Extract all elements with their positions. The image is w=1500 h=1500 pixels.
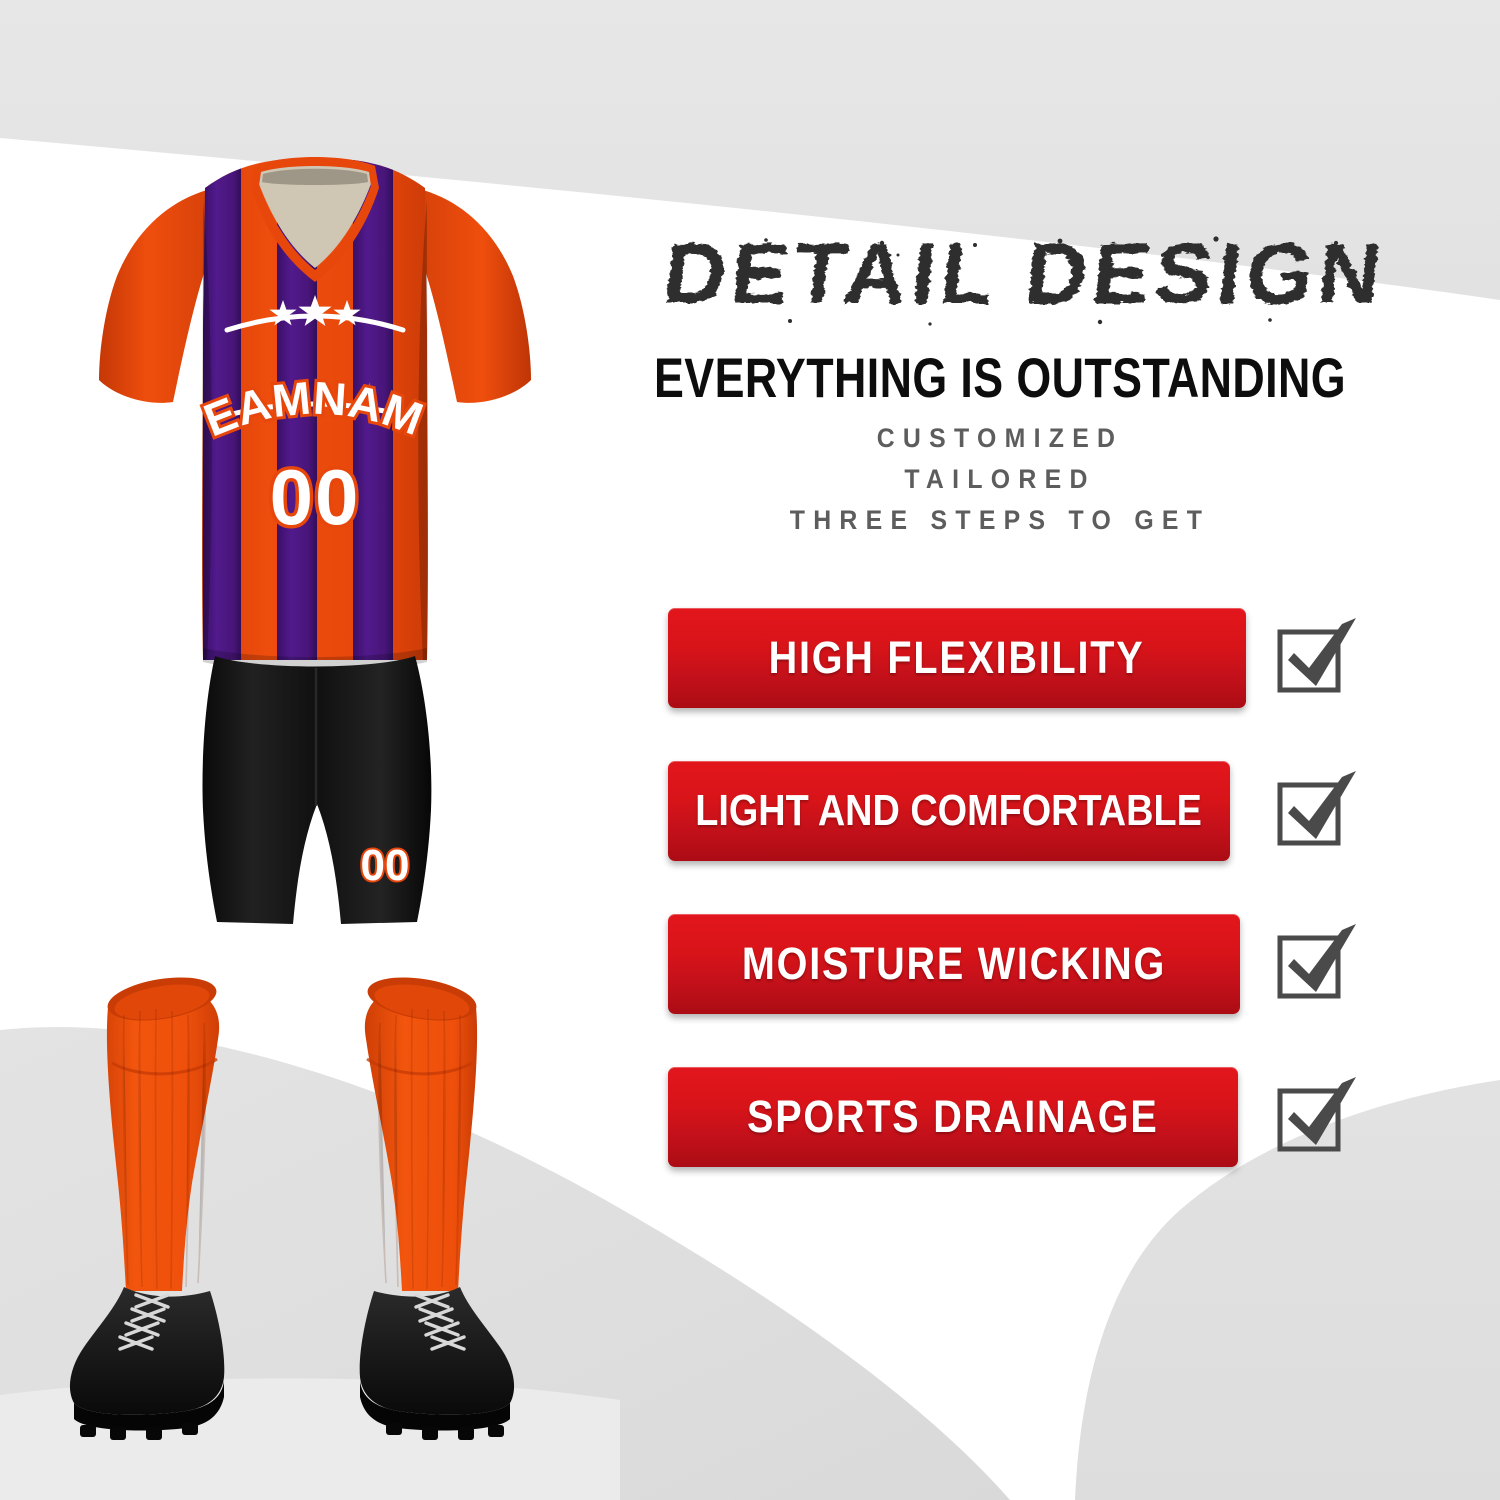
jersey-right-sleeve: [423, 190, 531, 403]
feature-label: HIGH FLEXIBILITY: [769, 632, 1145, 684]
cleat-left: [70, 1287, 224, 1440]
subtitle-line-1: CUSTOMIZED: [595, 418, 1405, 459]
jersey-left-sleeve: [99, 190, 207, 403]
feature-label: LIGHT AND COMFORTABLE: [696, 786, 1203, 836]
collar-inner-shadow: [262, 169, 368, 185]
uniform-kit-illustration: TEAMNAME 00 00: [55, 140, 575, 940]
feature-bar-sports-drainage[interactable]: SPORTS DRAINAGE: [668, 1067, 1238, 1167]
headline-text: EVERYTHING IS OUTSTANDING: [648, 345, 1352, 410]
sock-right: [365, 971, 480, 1291]
feature-row: SPORTS DRAINAGE: [668, 1067, 1488, 1177]
feature-label: SPORTS DRAINAGE: [747, 1091, 1158, 1143]
checkbox-checked-icon[interactable]: [1264, 918, 1360, 1014]
checkbox-checked-icon[interactable]: [1264, 1071, 1360, 1167]
feature-bar-light-and-comfortable[interactable]: LIGHT AND COMFORTABLE: [668, 761, 1230, 861]
content-panel: DETAIL DESIGN EVERYTHING IS OUTSTANDING …: [560, 0, 1500, 1500]
subtitle-line-2: TAILORED: [595, 459, 1405, 500]
feature-list: HIGH FLEXIBILITY LIGHT AND COMFORTABLE: [668, 608, 1488, 1220]
feature-row: LIGHT AND COMFORTABLE: [668, 761, 1488, 871]
page-title: DETAIL DESIGN: [630, 225, 1430, 330]
checkbox-checked-icon[interactable]: [1264, 765, 1360, 861]
page-title-text: DETAIL DESIGN: [659, 226, 1390, 322]
checkbox-checked-icon[interactable]: [1264, 612, 1360, 708]
feature-label: MOISTURE WICKING: [742, 938, 1166, 990]
feature-bar-moisture-wicking[interactable]: MOISTURE WICKING: [668, 914, 1240, 1014]
subtitle-block: CUSTOMIZED TAILORED THREE STEPS TO GET: [560, 418, 1440, 541]
subtitle-line-3: THREE STEPS TO GET: [595, 500, 1405, 541]
product-promo-page: TEAMNAME 00 00: [0, 0, 1500, 1500]
feature-row: MOISTURE WICKING: [668, 914, 1488, 1024]
shorts-number: 00: [361, 841, 410, 890]
feature-bar-high-flexibility[interactable]: HIGH FLEXIBILITY: [668, 608, 1246, 708]
sock-left: [105, 971, 220, 1291]
jersey-number: 00: [270, 453, 361, 541]
socks-and-cleats-illustration: [40, 955, 570, 1465]
product-showcase: TEAMNAME 00 00: [0, 0, 620, 1500]
cleat-right: [360, 1287, 514, 1440]
feature-row: HIGH FLEXIBILITY: [668, 608, 1488, 718]
